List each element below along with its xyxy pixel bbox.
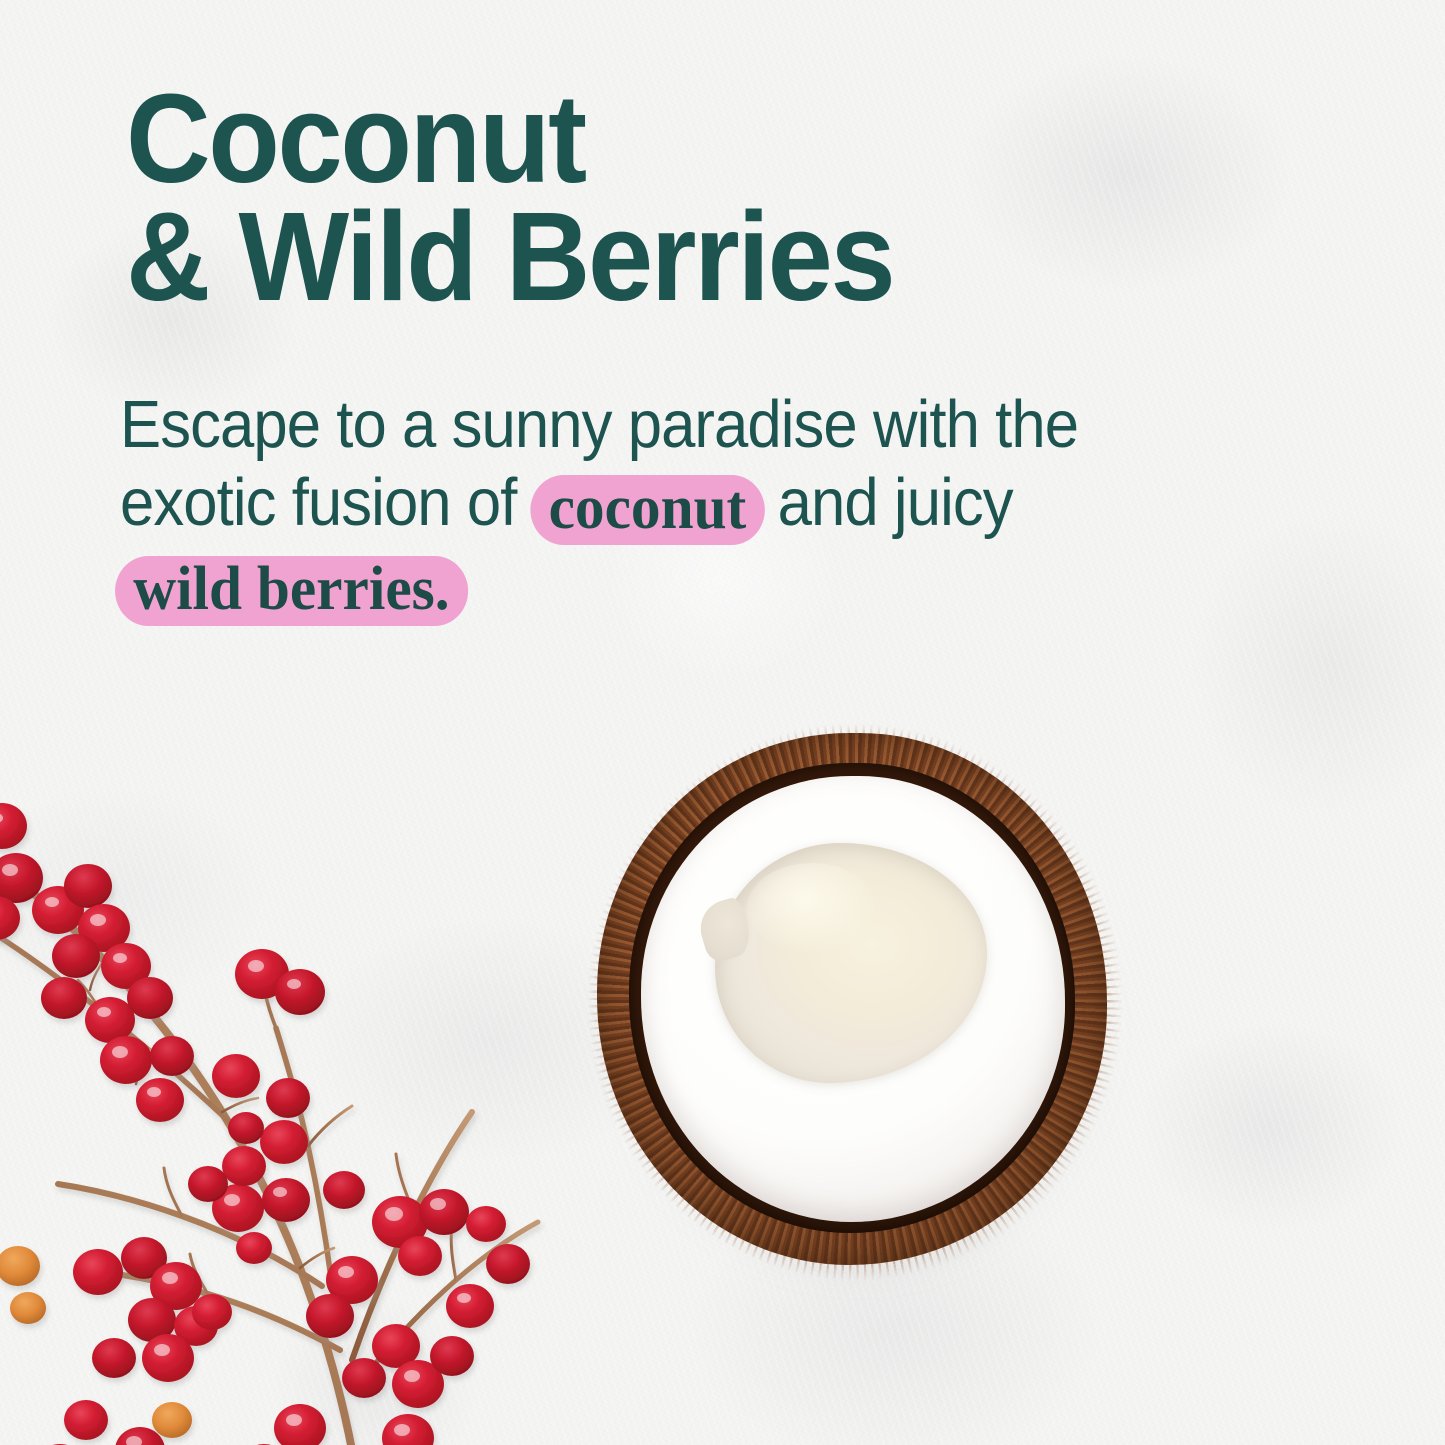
product-lifestyle-banner: Coconut & Wild Berries Escape to a sunny… bbox=[0, 0, 1445, 1445]
subcopy-text-part2: and juicy bbox=[778, 465, 1013, 540]
berry-branch-image bbox=[0, 760, 560, 1445]
highlight-pill-wild-berries: wild berries. bbox=[115, 556, 468, 626]
coconut-highlight bbox=[747, 863, 877, 953]
highlight-pill-coconut: coconut bbox=[530, 475, 764, 545]
berry-cluster bbox=[0, 803, 530, 1445]
coconut-image bbox=[597, 733, 1113, 1271]
subcopy-paragraph: Escape to a sunny paradise with the exot… bbox=[120, 386, 1150, 626]
page-title: Coconut & Wild Berries bbox=[126, 80, 1056, 316]
